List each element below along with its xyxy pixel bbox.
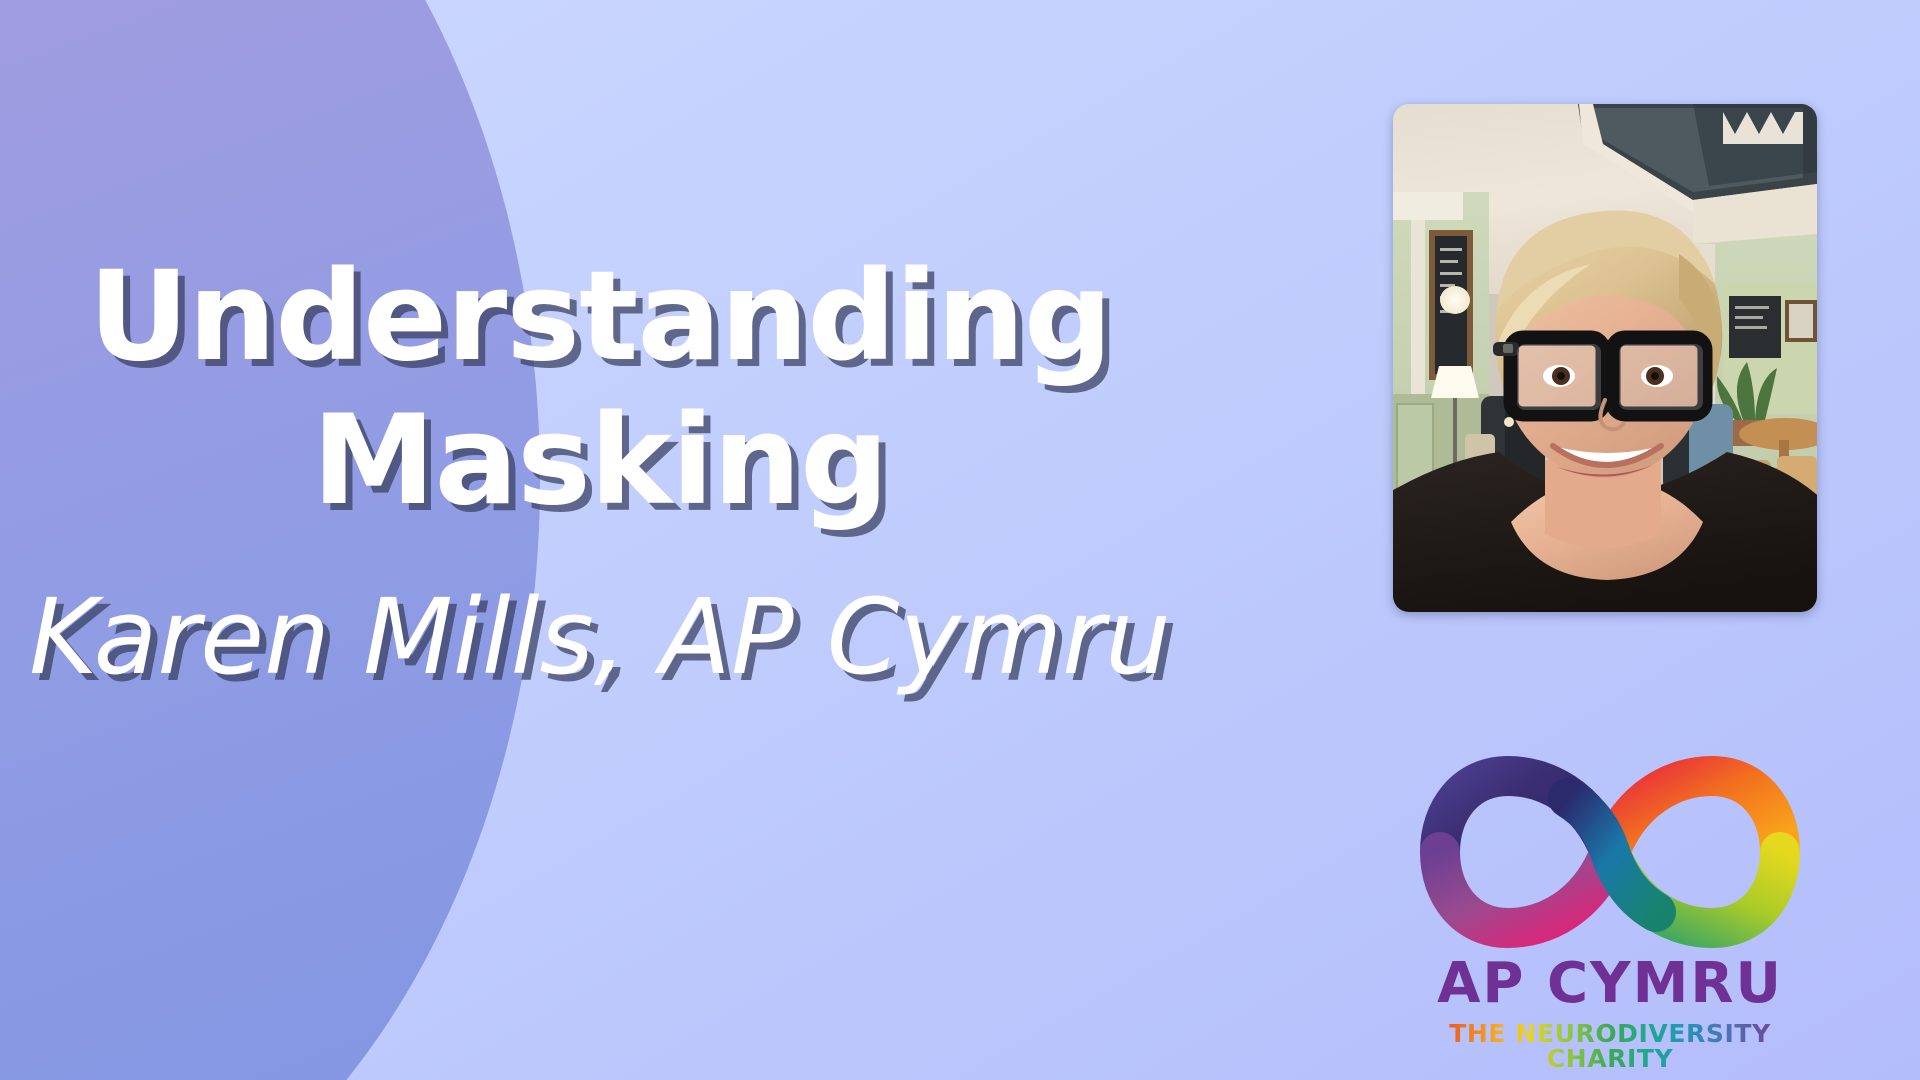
ap-cymru-logo: AP CYMRU THE NEURODIVERSITY CHARITY xyxy=(1418,752,1802,1054)
presenter-subtitle: Karen Mills, AP Cymru xyxy=(0,580,1200,694)
logo-tagline: THE NEURODIVERSITY CHARITY xyxy=(1418,1021,1802,1071)
logo-wordmark: AP CYMRU xyxy=(1418,956,1802,1012)
presentation-slide: Understanding Masking Karen Mills, AP Cy… xyxy=(0,0,1920,1080)
speaker-webcam-tile[interactable] xyxy=(1393,104,1817,612)
infinity-symbol-icon xyxy=(1418,752,1802,952)
slide-text-block: Understanding Masking Karen Mills, AP Cy… xyxy=(0,246,1200,694)
speaker-photo xyxy=(1393,104,1817,612)
slide-title-line-2: Masking xyxy=(0,390,1200,534)
slide-title-line-1: Understanding xyxy=(0,246,1200,390)
